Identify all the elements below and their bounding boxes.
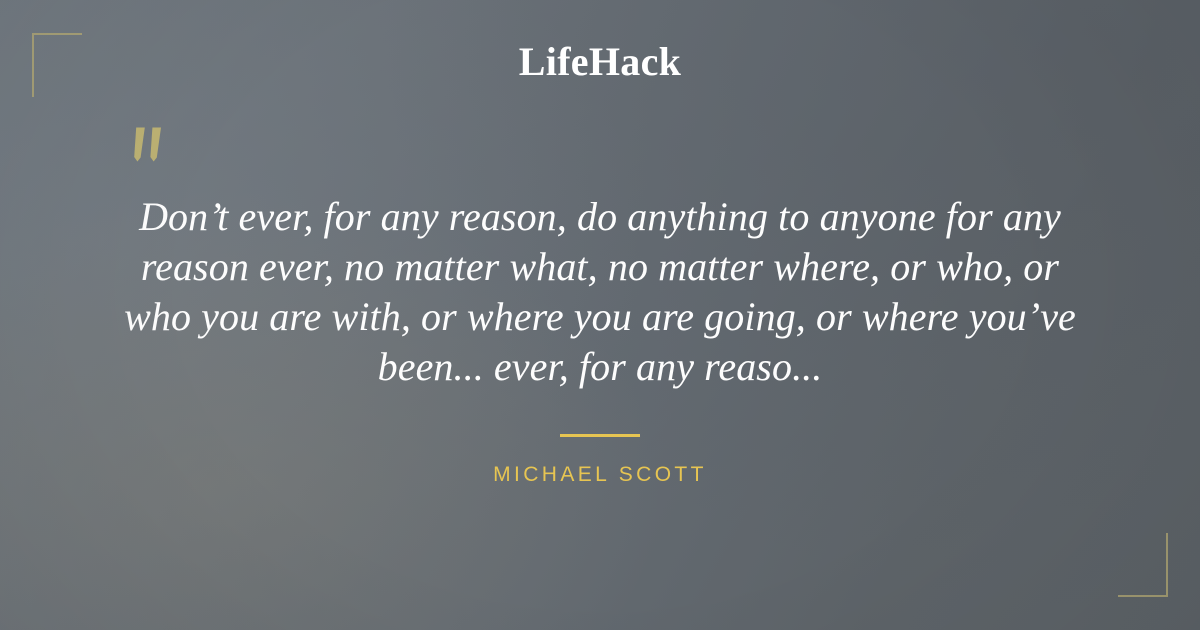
quote-block: Don’t ever, for any reason, do anything …	[0, 192, 1200, 392]
brand-logo: LifeHack	[0, 40, 1200, 84]
quote-author: MICHAEL SCOTT	[0, 463, 1200, 487]
quote-text: Don’t ever, for any reason, do anything …	[104, 192, 1096, 392]
corner-bracket-icon-bottom-right	[1118, 533, 1168, 597]
double-quote-icon	[133, 126, 169, 164]
divider-rule	[560, 434, 640, 437]
quote-card: LifeHack Don’t ever, for any reason, do …	[0, 0, 1200, 630]
